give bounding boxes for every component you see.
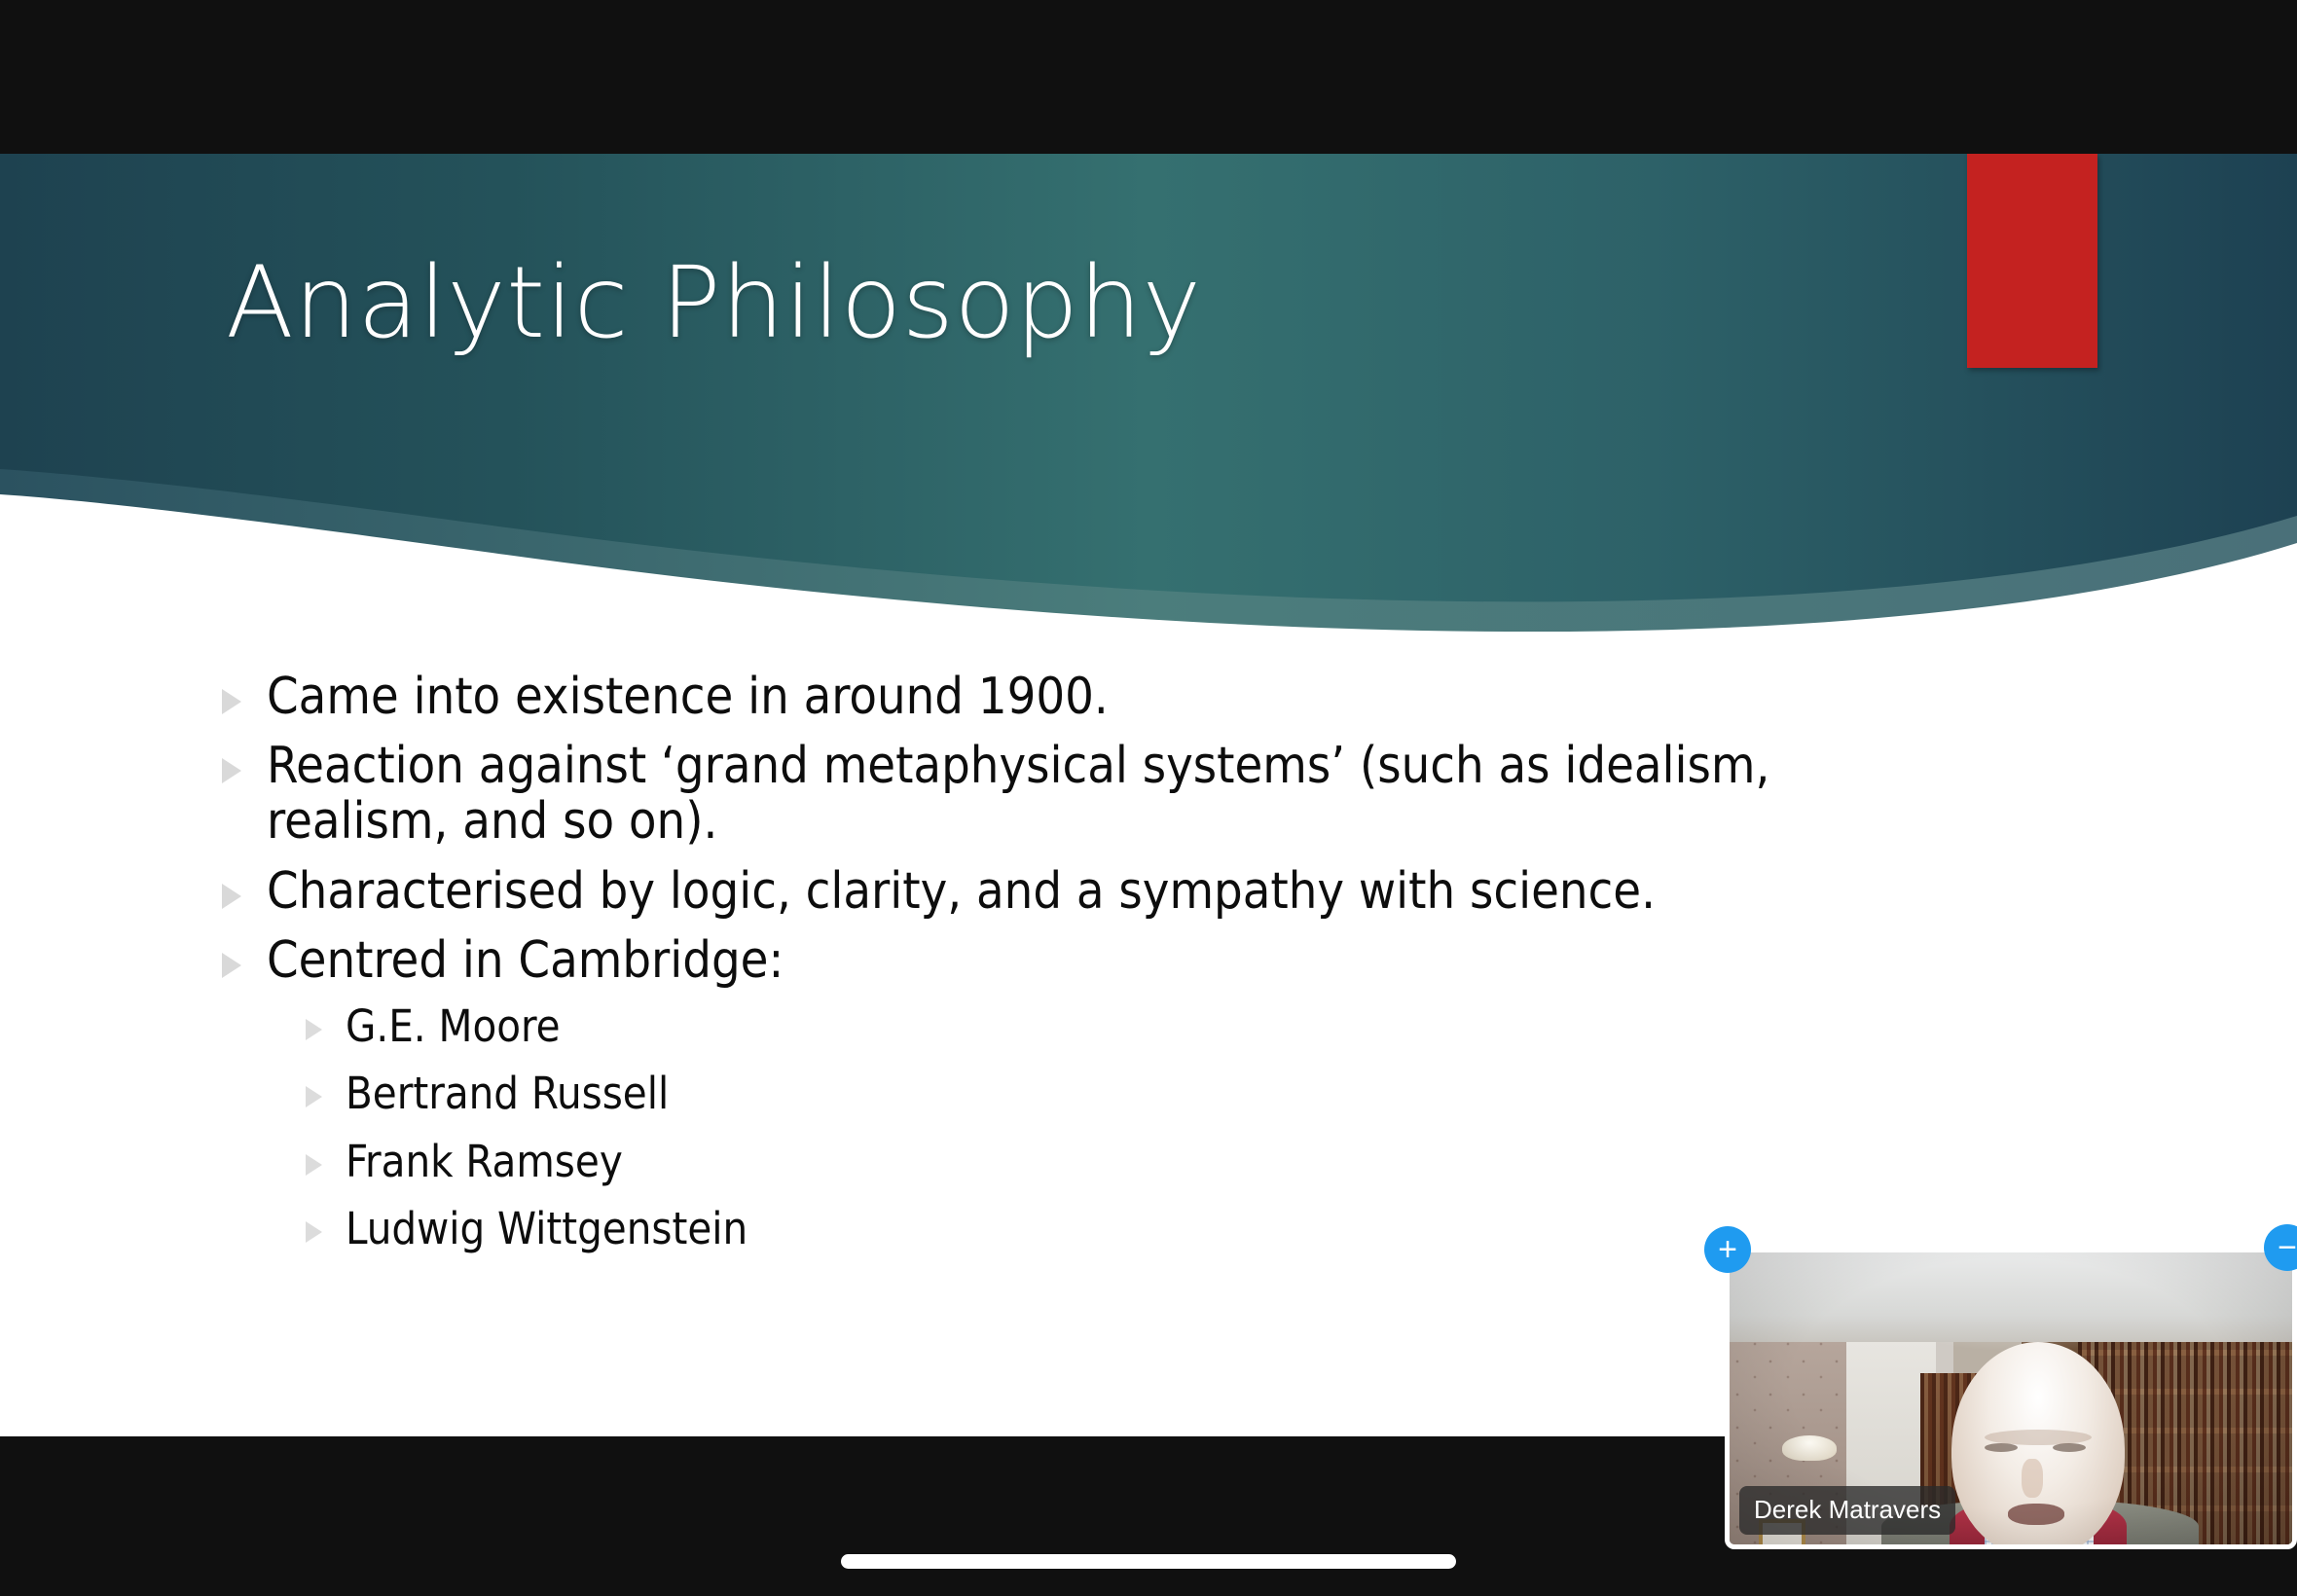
slide-canvas[interactable]: Analytic Philosophy Came into existence … xyxy=(0,154,2297,1436)
bullet-arrow-icon xyxy=(222,884,241,909)
red-accent-rectangle xyxy=(1967,154,2097,368)
bullet-arrow-icon xyxy=(306,1019,322,1040)
bullet-item: G.E. Moore xyxy=(306,1002,2052,1051)
bullet-text: Frank Ramsey xyxy=(346,1138,623,1186)
bullet-arrow-icon xyxy=(306,1154,322,1176)
person-eye-left xyxy=(1985,1443,2018,1452)
bullet-arrow-icon xyxy=(222,758,241,783)
bullet-item: Centred in Cambridge: xyxy=(222,933,2052,989)
person-eye-right xyxy=(2053,1443,2086,1452)
bullet-text: Bertrand Russell xyxy=(346,1070,669,1118)
banner-body xyxy=(0,154,2297,601)
bullet-arrow-icon xyxy=(222,953,241,978)
bullet-text: G.E. Moore xyxy=(346,1002,561,1051)
wall-lamp xyxy=(1782,1435,1837,1461)
bullet-item: Characterised by logic, clarity, and a s… xyxy=(222,864,2052,920)
zoom-in-button[interactable]: + xyxy=(1704,1226,1751,1273)
bullet-item: Reaction against ‘grand metaphysical sys… xyxy=(222,739,2052,850)
participant-name-badge: Derek Matravers xyxy=(1739,1486,1955,1535)
zoom-out-button[interactable]: − xyxy=(2264,1224,2297,1271)
bullet-text: Centred in Cambridge: xyxy=(267,933,784,989)
letterbox-top xyxy=(0,0,2297,154)
presentation-screen: Analytic Philosophy Came into existence … xyxy=(0,0,2297,1596)
banner-shape xyxy=(0,154,2297,660)
bullet-arrow-icon xyxy=(306,1086,322,1107)
person-nose xyxy=(2022,1459,2043,1498)
bullet-text: Ludwig Wittgenstein xyxy=(346,1205,747,1253)
person-mouth xyxy=(2008,1504,2064,1525)
participant-video-panel[interactable]: Derek Matravers xyxy=(1725,1248,2297,1549)
bullet-item: Ludwig Wittgenstein xyxy=(306,1205,2052,1253)
bullet-text: Reaction against ‘grand metaphysical sys… xyxy=(267,739,1843,850)
bullet-item: Came into existence in around 1900. xyxy=(222,670,2052,725)
bullet-item: Frank Ramsey xyxy=(306,1138,2052,1186)
minus-icon: − xyxy=(2264,1224,2297,1271)
slide-header-banner xyxy=(0,154,2297,660)
bullet-text: Characterised by logic, clarity, and a s… xyxy=(267,864,1656,920)
slide-body-list: Came into existence in around 1900. Reac… xyxy=(222,670,2052,1273)
plus-icon: + xyxy=(1704,1226,1751,1273)
bullet-arrow-icon xyxy=(222,689,241,714)
bullet-text: Came into existence in around 1900. xyxy=(267,670,1109,725)
home-indicator[interactable] xyxy=(841,1554,1456,1569)
slide-title: Analytic Philosophy xyxy=(226,251,1202,355)
bullet-item: Bertrand Russell xyxy=(306,1070,2052,1118)
ceiling xyxy=(1730,1252,2292,1342)
bullet-arrow-icon xyxy=(306,1221,322,1243)
